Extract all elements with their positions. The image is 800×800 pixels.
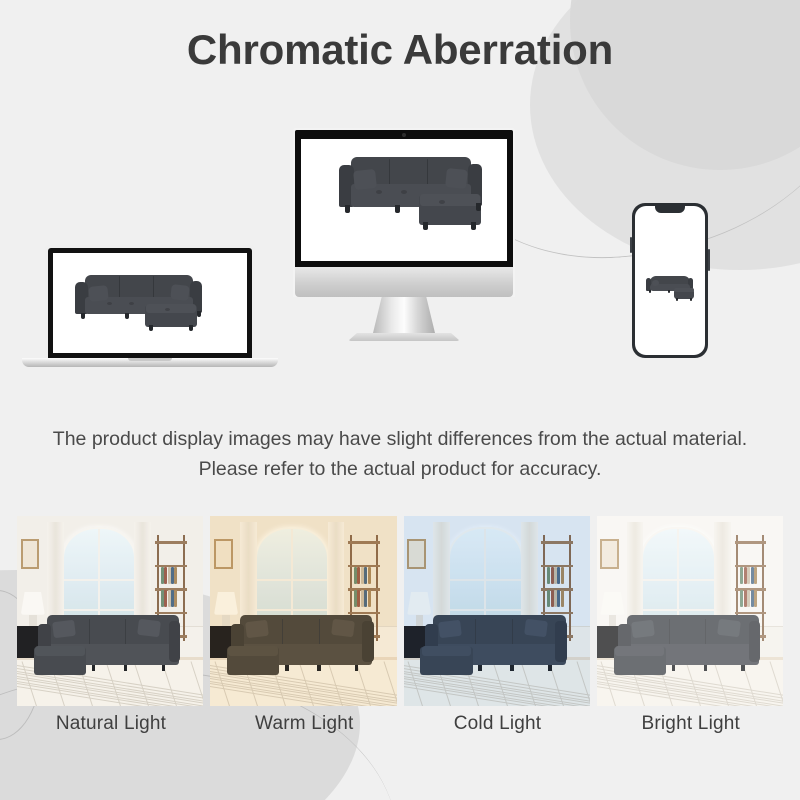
sofa-illustration-monitor xyxy=(331,157,491,247)
room-table-lamp xyxy=(600,592,624,615)
room-sofa xyxy=(34,615,179,678)
lighting-comparison-grid xyxy=(17,516,783,706)
device-monitor xyxy=(293,128,515,341)
lighting-label-0: Natural Light xyxy=(17,713,205,735)
room-sofa xyxy=(614,615,759,678)
lighting-label-1: Warm Light xyxy=(210,713,398,735)
laptop-bezel xyxy=(48,248,252,358)
device-laptop xyxy=(45,245,255,367)
room-scene xyxy=(210,516,396,706)
lighting-sample-0[interactable] xyxy=(17,516,203,706)
laptop-lid xyxy=(45,245,255,358)
lighting-sample-1[interactable] xyxy=(210,516,396,706)
room-sofa xyxy=(420,615,565,678)
monitor-webcam-icon xyxy=(402,133,406,137)
device-phone xyxy=(632,203,708,358)
monitor-stand-neck xyxy=(373,297,435,333)
room-table-lamp xyxy=(407,592,431,615)
wall-art xyxy=(21,539,40,569)
disclaimer-text: The product display images may have slig… xyxy=(30,424,770,484)
phone-volume-button[interactable] xyxy=(630,237,632,253)
lighting-label-3: Bright Light xyxy=(597,713,785,735)
sofa-illustration-laptop xyxy=(67,275,219,337)
infographic-page: Chromatic Aberration xyxy=(0,0,800,800)
room-table-lamp xyxy=(21,592,45,615)
lighting-sample-3[interactable] xyxy=(597,516,783,706)
phone-power-button[interactable] xyxy=(708,249,710,271)
lighting-label-2: Cold Light xyxy=(404,713,592,735)
room-sofa xyxy=(227,615,372,678)
wall-art xyxy=(214,539,233,569)
monitor-stand-base xyxy=(348,333,460,341)
device-showcase xyxy=(0,120,800,400)
laptop-base xyxy=(22,358,278,367)
phone-screen xyxy=(635,206,705,355)
disclaimer-line-1: The product display images may have slig… xyxy=(53,428,667,450)
lighting-sample-2[interactable] xyxy=(404,516,590,706)
monitor-bezel xyxy=(295,130,513,267)
room-scene xyxy=(404,516,590,706)
phone-notch xyxy=(655,206,685,213)
sofa-illustration-phone xyxy=(644,276,698,306)
monitor-outer-frame xyxy=(293,128,515,297)
wall-art xyxy=(600,539,619,569)
laptop-trackpad-notch xyxy=(128,358,172,361)
room-table-lamp xyxy=(214,592,238,615)
page-title: Chromatic Aberration xyxy=(0,26,800,74)
monitor-chin xyxy=(295,267,513,297)
laptop-screen xyxy=(53,253,247,353)
room-scene xyxy=(597,516,783,706)
wall-art xyxy=(407,539,426,569)
monitor-screen xyxy=(301,139,507,261)
room-scene xyxy=(17,516,203,706)
